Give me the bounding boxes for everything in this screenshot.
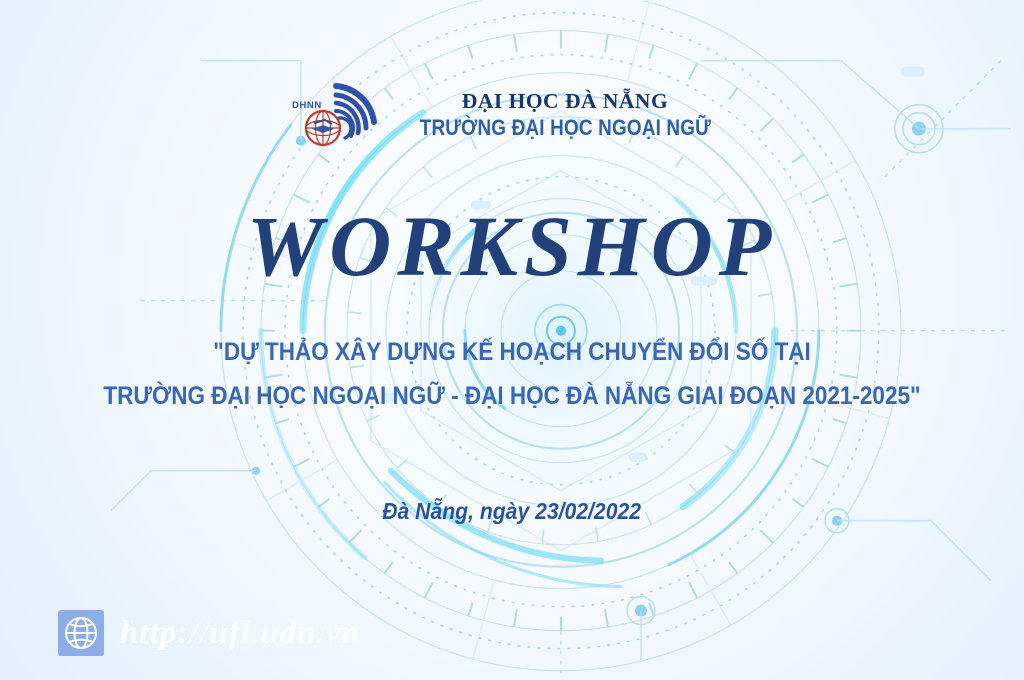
banner-content: DHNN ĐẠI HỌC ĐÀ NẴNG TRƯ: [0, 0, 1024, 680]
event-date: Đà Nẵng, ngày 23/02/2022: [0, 498, 1024, 525]
university-header: DHNN ĐẠI HỌC ĐÀ NẴNG TRƯ: [0, 82, 1024, 148]
workshop-banner: DHNN ĐẠI HỌC ĐÀ NẴNG TRƯ: [0, 0, 1024, 680]
dhnn-university-logo-icon: DHNN: [290, 82, 382, 148]
website-footer[interactable]: http://ufl.udn.vn: [58, 610, 361, 656]
university-name-line1: ĐẠI HỌC ĐÀ NẴNG: [396, 91, 735, 113]
workshop-subtitle: "DỰ THẢO XÂY DỰNG KẾ HOẠCH CHUYỂN ĐỔI SỐ…: [0, 330, 1024, 418]
workshop-subtitle-line1: "DỰ THẢO XÂY DỰNG KẾ HOẠCH CHUYỂN ĐỔI SỐ…: [51, 330, 973, 374]
workshop-subtitle-line2: TRƯỜNG ĐẠI HỌC NGOẠI NGỮ - ĐẠI HỌC ĐÀ NẴ…: [51, 374, 973, 418]
website-url[interactable]: http://ufl.udn.vn: [120, 615, 361, 652]
event-date-text: Đà Nẵng, ngày 23/02/2022: [383, 498, 642, 525]
globe-icon: [58, 610, 104, 656]
page-title: WORKSHOP: [0, 196, 1024, 296]
svg-text:DHNN: DHNN: [292, 100, 322, 111]
university-name-line2: TRƯỜNG ĐẠI HỌC NGOẠI NGỮ: [419, 117, 710, 139]
university-names: ĐẠI HỌC ĐÀ NẴNG TRƯỜNG ĐẠI HỌC NGOẠI NGỮ: [396, 91, 735, 140]
